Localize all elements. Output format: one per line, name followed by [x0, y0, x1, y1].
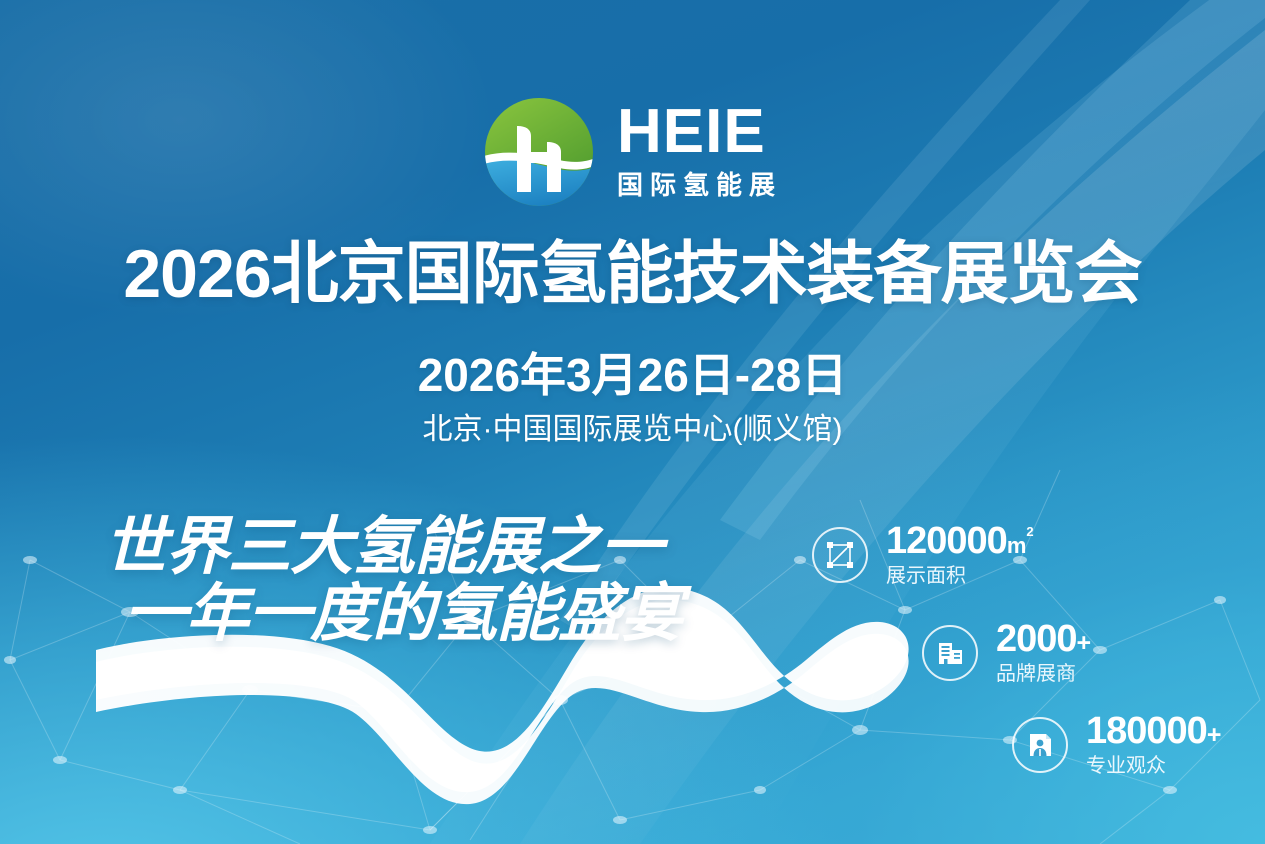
- heie-circle-h-logo-icon: [483, 96, 595, 208]
- stats-group: 120000m2 展示面积: [800, 512, 1265, 812]
- stat-suffix: +: [1077, 629, 1091, 657]
- stat-suffix: +: [1207, 721, 1221, 749]
- stat-value: 120000m2: [886, 522, 1034, 560]
- visitor-badge-icon: [1012, 717, 1068, 773]
- stat-value: 2000+: [996, 620, 1090, 658]
- area-measure-icon: [812, 527, 868, 583]
- stat-brand-exhibitors: 2000+ 品牌展商: [922, 620, 1090, 685]
- slogan-line-2: 一年一度的氢能盛宴: [124, 581, 682, 648]
- logo-subtitle: 国际氢能展: [617, 165, 782, 202]
- event-slogan: 世界三大氢能展之一 一年一度的氢能盛宴: [104, 514, 682, 648]
- stat-professional-visitors: 180000+ 专业观众: [1012, 712, 1220, 777]
- building-icon: [922, 625, 978, 681]
- stat-number: 2000: [996, 618, 1077, 660]
- page-title: 2026北京国际氢能技术装备展览会: [0, 238, 1265, 311]
- stat-label: 专业观众: [1086, 755, 1220, 777]
- slogan-line-1: 世界三大氢能展之一: [104, 512, 662, 582]
- stat-label: 展示面积: [886, 565, 1034, 587]
- stat-exhibition-area: 120000m2 展示面积: [812, 522, 1034, 587]
- logo-wordmark: HEIE: [617, 102, 766, 162]
- event-poster: HEIE 国际氢能展 2026北京国际氢能技术装备展览会 2026年3月26日-…: [0, 0, 1265, 844]
- stat-number: 180000: [1086, 710, 1207, 752]
- event-venue: 北京·中国国际展览中心(顺义馆): [0, 412, 1265, 448]
- stat-value: 180000+: [1086, 712, 1220, 750]
- event-date: 2026年3月26日-28日: [0, 350, 1265, 401]
- stat-unit: m2: [1007, 533, 1034, 558]
- stat-label: 品牌展商: [996, 663, 1090, 685]
- brand-logo-lockup: HEIE 国际氢能展: [0, 96, 1265, 208]
- stat-number: 120000: [886, 520, 1007, 562]
